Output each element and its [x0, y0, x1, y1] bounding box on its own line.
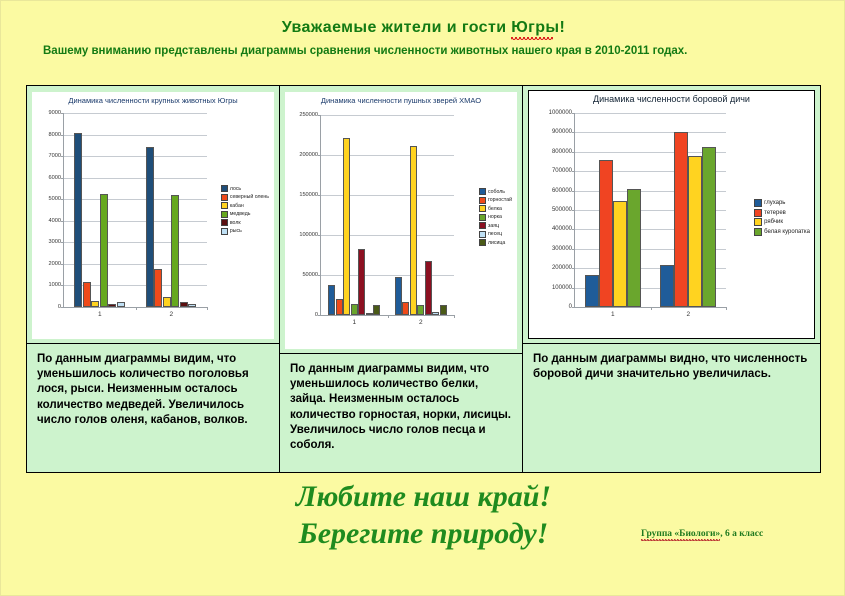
- bar-рысь: [117, 302, 125, 307]
- chart-fur-animals: Динамика численности пушных зверей ХМАО …: [285, 92, 517, 349]
- slogan: Любите наш край! Берегите природу!: [1, 479, 845, 552]
- bar-медведь: [171, 195, 179, 307]
- y-axis-tick-label: 500000: [552, 207, 572, 213]
- column-game-birds: Динамика численности боровой дичи 010000…: [523, 86, 820, 472]
- legend-item: кабан: [221, 202, 269, 209]
- x-axis-tick-label: 2: [419, 319, 423, 326]
- bar-рябчик: [613, 201, 627, 307]
- x-axis-tick-label: 1: [611, 311, 615, 318]
- bar-кабан: [91, 301, 99, 307]
- commentary-large-animals: По данным диаграммы видим, что уменьшило…: [27, 344, 279, 472]
- chart-game-birds: Динамика численности боровой дичи 010000…: [528, 90, 815, 339]
- chart-legend: глухарьтетереврябчикбелая куропатка: [754, 199, 810, 236]
- legend-swatch-icon: [479, 197, 486, 204]
- y-axis-tick-label: 250000: [299, 112, 318, 118]
- y-axis-tick-label: 100000: [552, 285, 572, 291]
- bar-белка: [410, 146, 417, 315]
- legend-swatch-icon: [479, 222, 486, 229]
- y-axis-tick-label: 200000: [299, 152, 318, 158]
- legend-swatch-icon: [221, 219, 228, 226]
- legend-item: медведь: [221, 211, 269, 218]
- bar-рябчик: [688, 156, 702, 307]
- x-axis-tick: [388, 315, 389, 318]
- y-axis-tick-label: 9000: [49, 110, 61, 116]
- chart-title: Динамика численности пушных зверей ХМАО: [286, 96, 516, 105]
- bar-заяц: [425, 261, 432, 315]
- legend-label: норка: [488, 214, 502, 220]
- legend-label: глухарь: [764, 200, 785, 206]
- legend-swatch-icon: [754, 199, 762, 207]
- legend-swatch-icon: [221, 185, 228, 192]
- legend-label: кабан: [230, 203, 244, 209]
- y-axis-tick-label: 1000000: [549, 110, 572, 116]
- legend-swatch-icon: [479, 214, 486, 221]
- y-axis-tick-label: 1000: [49, 282, 61, 288]
- legend-item: лось: [221, 185, 269, 192]
- bar-тетерев: [674, 132, 688, 307]
- bar-северный олень: [154, 269, 162, 307]
- bar-лось: [146, 147, 154, 307]
- legend-item: норка: [479, 214, 512, 221]
- legend-swatch-icon: [221, 211, 228, 218]
- legend-label: рысь: [230, 228, 242, 234]
- legend-label: заяц: [488, 223, 499, 229]
- commentary-fur-animals: По данным диаграммы видим, что уменьшило…: [280, 354, 522, 472]
- commentary-game-birds: По данным диаграммы видно, что численнос…: [523, 344, 820, 472]
- legend-label: северный олень: [230, 194, 269, 200]
- page-title-exclamation: !: [559, 19, 565, 36]
- chart-large-animals: Динамика численности крупных животных Юг…: [32, 92, 274, 339]
- y-axis-tick-label: 400000: [552, 226, 572, 232]
- chart-cell-3: Динамика численности боровой дичи 010000…: [523, 86, 820, 344]
- chart-cell-1: Динамика численности крупных животных Юг…: [27, 86, 279, 344]
- legend-swatch-icon: [754, 218, 762, 226]
- page-title-text: Уважаемые жители и гости: [282, 19, 512, 36]
- y-axis-tick-label: 7000: [49, 153, 61, 159]
- bar-белка: [343, 138, 350, 315]
- y-axis-tick-label: 4000: [49, 218, 61, 224]
- bar-лось: [74, 133, 82, 307]
- legend-item: тетерев: [754, 209, 810, 217]
- column-large-animals: Динамика численности крупных животных Юг…: [27, 86, 280, 472]
- x-axis-tick-label: 2: [169, 311, 173, 318]
- legend-label: лось: [230, 186, 241, 192]
- legend-swatch-icon: [221, 194, 228, 201]
- y-axis-tick-label: 5000: [49, 196, 61, 202]
- legend-item: рысь: [221, 228, 269, 235]
- bar-group: [64, 113, 136, 307]
- y-axis-tick-label: 800000: [552, 149, 572, 155]
- content-table: Динамика численности крупных животных Юг…: [26, 85, 821, 473]
- bar-group: [136, 113, 208, 307]
- bar-норка: [417, 305, 424, 315]
- legend-label: песец: [488, 231, 502, 237]
- chart-legend: лосьсеверный оленькабанмедведьволкрысь: [221, 185, 269, 235]
- legend-swatch-icon: [221, 202, 228, 209]
- page-title: Уважаемые жители и гости Югры!: [1, 19, 845, 37]
- legend-swatch-icon: [479, 188, 486, 195]
- poster-page: Уважаемые жители и гости Югры! Вашему вн…: [0, 0, 845, 596]
- y-axis-tick-label: 300000: [552, 246, 572, 252]
- y-axis-tick-label: 700000: [552, 168, 572, 174]
- legend-swatch-icon: [754, 228, 762, 236]
- legend-swatch-icon: [479, 205, 486, 212]
- legend-item: горностай: [479, 197, 512, 204]
- legend-label: тетерев: [764, 210, 786, 216]
- x-axis-tick-label: 1: [98, 311, 102, 318]
- legend-label: волк: [230, 220, 241, 226]
- legend-item: белка: [479, 205, 512, 212]
- bar-group: [651, 113, 727, 307]
- legend-item: глухарь: [754, 199, 810, 207]
- legend-swatch-icon: [479, 231, 486, 238]
- x-axis-tick-label: 2: [686, 311, 690, 318]
- legend-label: лисица: [488, 240, 505, 246]
- legend-label: медведь: [230, 211, 251, 217]
- bar-белая куропатка: [702, 147, 716, 307]
- legend-item: соболь: [479, 188, 512, 195]
- bar-волк: [108, 304, 116, 307]
- bar-медведь: [100, 194, 108, 307]
- chart-title: Динамика численности боровой дичи: [529, 94, 814, 104]
- bar-лисица: [440, 305, 447, 315]
- credit-group-name: Группа «Биологи»: [641, 529, 720, 539]
- y-axis-tick: [61, 307, 64, 308]
- y-axis-tick-label: 8000: [49, 132, 61, 138]
- bar-container: [575, 113, 726, 307]
- page-title-highlight: Югры: [511, 19, 559, 37]
- y-axis-tick-label: 6000: [49, 175, 61, 181]
- page-subtitle: Вашему вниманию представлены диаграммы с…: [43, 43, 813, 61]
- legend-item: северный олень: [221, 194, 269, 201]
- y-axis-tick-label: 150000: [299, 192, 318, 198]
- x-axis-tick-label: 1: [352, 319, 356, 326]
- x-axis-tick: [454, 315, 455, 318]
- slogan-line-1: Любите наш край!: [1, 479, 845, 516]
- y-axis-tick-label: 3000: [49, 239, 61, 245]
- x-axis-tick: [726, 307, 727, 310]
- x-axis-tick: [651, 307, 652, 310]
- plot-area: 010002000300040005000600070008000900012: [63, 113, 207, 308]
- legend-label: горностай: [488, 197, 512, 203]
- legend-item: лисица: [479, 239, 512, 246]
- y-axis-tick-label: 600000: [552, 188, 572, 194]
- bar-горностай: [336, 299, 343, 315]
- x-axis-tick: [207, 307, 208, 310]
- column-fur-animals: Динамика численности пушных зверей ХМАО …: [280, 86, 523, 472]
- legend-item: песец: [479, 231, 512, 238]
- bar-тетерев: [599, 160, 613, 307]
- y-axis-tick-label: 200000: [552, 265, 572, 271]
- bar-соболь: [395, 277, 402, 315]
- bar-белая куропатка: [627, 189, 641, 307]
- bar-северный олень: [83, 282, 91, 307]
- bar-песец: [366, 313, 373, 315]
- plot-area: 0100000200000300000400000500000600000700…: [574, 113, 726, 308]
- x-axis-tick: [136, 307, 137, 310]
- credit-line: Группа «Биологи», 6 а класс: [641, 529, 763, 539]
- legend-label: белая куропатка: [764, 229, 810, 235]
- bar-лисица: [373, 305, 380, 315]
- y-axis-tick-label: 900000: [552, 129, 572, 135]
- bar-кабан: [163, 297, 171, 307]
- legend-item: волк: [221, 219, 269, 226]
- bar-container: [321, 115, 454, 315]
- legend-label: рябчик: [764, 219, 783, 225]
- bar-глухарь: [585, 275, 599, 307]
- bar-container: [64, 113, 207, 307]
- legend-swatch-icon: [479, 239, 486, 246]
- chart-legend: собольгорностайбелканорказаяцпесецлисица: [479, 188, 512, 246]
- y-axis-tick: [318, 315, 321, 316]
- legend-item: заяц: [479, 222, 512, 229]
- chart-title: Динамика численности крупных животных Юг…: [33, 96, 273, 105]
- bar-group: [575, 113, 651, 307]
- bar-соболь: [328, 285, 335, 315]
- chart-cell-2: Динамика численности пушных зверей ХМАО …: [280, 86, 522, 354]
- bar-глухарь: [660, 265, 674, 307]
- legend-item: белая куропатка: [754, 228, 810, 236]
- legend-label: белка: [488, 206, 502, 212]
- y-axis-tick-label: 2000: [49, 261, 61, 267]
- legend-swatch-icon: [221, 228, 228, 235]
- bar-песец: [432, 312, 439, 315]
- bar-норка: [351, 304, 358, 315]
- bar-рысь: [188, 304, 196, 307]
- bar-заяц: [358, 249, 365, 315]
- y-axis-tick: [572, 307, 575, 308]
- plot-area: 05000010000015000020000025000012: [320, 115, 454, 316]
- bar-волк: [180, 302, 188, 307]
- bar-group: [388, 115, 455, 315]
- legend-label: соболь: [488, 189, 505, 195]
- bar-group: [321, 115, 388, 315]
- y-axis-tick-label: 50000: [302, 272, 318, 278]
- y-axis-tick-label: 100000: [299, 232, 318, 238]
- bar-горностай: [402, 302, 409, 315]
- credit-class: , 6 а класс: [720, 529, 763, 539]
- legend-swatch-icon: [754, 209, 762, 217]
- legend-item: рябчик: [754, 218, 810, 226]
